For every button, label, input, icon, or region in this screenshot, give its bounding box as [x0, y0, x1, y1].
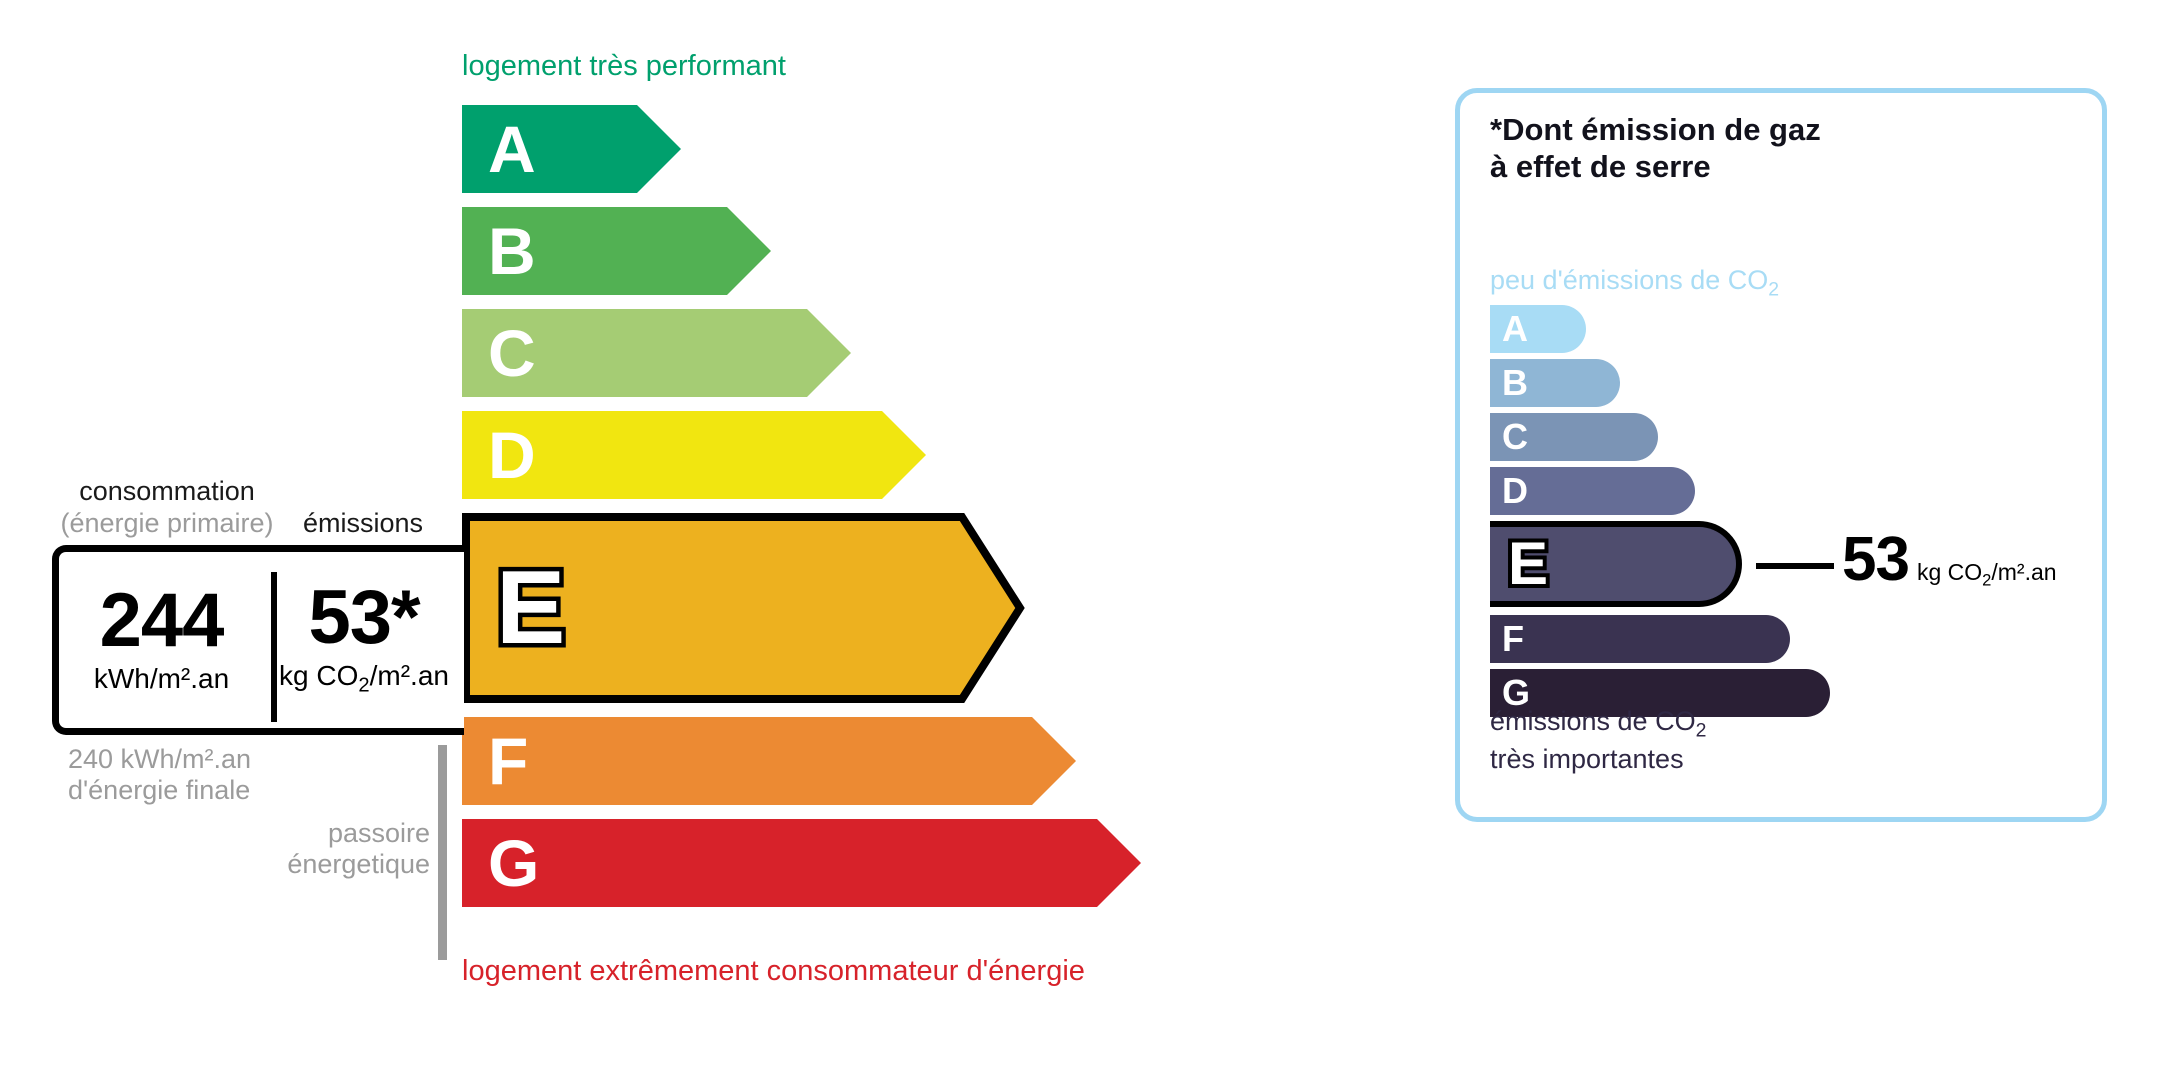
energy-class-letter-c: C: [488, 320, 536, 386]
co2-callout-leader-line: [1756, 563, 1834, 569]
label-passoire-line1: passoire: [200, 818, 430, 849]
emissions-value: 53*: [308, 582, 419, 654]
energy-class-letter-d: D: [488, 422, 536, 488]
label-passoire-line2: énergetique: [200, 849, 430, 880]
energy-class-row-e: E: [462, 513, 1262, 703]
energy-arrow-shape-f: [462, 717, 1076, 805]
energy-class-row-g: G: [462, 819, 1262, 907]
co2-class-row-a: A: [1490, 305, 1830, 353]
consommation-value-cell: 244 kWh/m².an: [59, 552, 264, 728]
co2-callout: 53kg CO2/m².an: [1842, 529, 2057, 591]
co2-callout-unit: kg CO2/m².an: [1917, 559, 2057, 591]
co2-class-letter-f: F: [1502, 621, 1524, 657]
co2-class-row-b: B: [1490, 359, 1830, 407]
co2-emissions-panel: *Dont émission de gaz à effet de serre p…: [1455, 88, 2107, 822]
energy-arrow-g: G: [462, 819, 1262, 907]
co2-class-row-c: C: [1490, 413, 1830, 461]
energy-class-row-f: F: [462, 717, 1262, 805]
energy-arrow-shape-g: [462, 819, 1141, 907]
co2-class-letter-d: D: [1502, 473, 1528, 509]
co2-class-letter-e: E: [1508, 534, 1548, 594]
consommation-unit: kWh/m².an: [94, 663, 229, 695]
co2-title-line2: à effet de serre: [1490, 148, 1821, 185]
energy-class-row-b: B: [462, 207, 1262, 295]
label-consommation: consommation: [62, 476, 272, 507]
co2-bottom-caption-line1: émissions de CO2: [1490, 705, 1706, 743]
emissions-unit: kg CO2/m².an: [279, 660, 449, 698]
co2-class-row-d: D: [1490, 467, 1830, 515]
consommation-value: 244: [100, 585, 224, 657]
energy-class-letter-g: G: [488, 830, 539, 896]
co2-class-row-f: F: [1490, 615, 1830, 663]
passoire-indicator-bar: [438, 745, 447, 960]
dpe-energy-panel: logement très performant ABCDEFG logemen…: [0, 0, 1400, 1079]
energy-class-arrow-stack: ABCDEFG: [462, 105, 1262, 921]
energy-class-letter-f: F: [488, 728, 528, 794]
energy-scale-top-caption: logement très performant: [462, 50, 786, 83]
co2-bottom-caption-line2: très importantes: [1490, 743, 1706, 775]
label-passoire-energetique: passoire énergetique: [200, 818, 430, 881]
energy-arrow-a: A: [462, 105, 1262, 193]
co2-panel-title: *Dont émission de gaz à effet de serre: [1490, 111, 1821, 185]
co2-class-bar-stack: ABCDE53kg CO2/m².anFG: [1490, 305, 1830, 723]
energy-arrow-d: D: [462, 411, 1262, 499]
co2-scale-bottom-caption: émissions de CO2 très importantes: [1490, 705, 1706, 775]
energy-class-letter-b: B: [488, 218, 536, 284]
energy-arrow-c: C: [462, 309, 1262, 397]
label-energie-finale-line1: 240 kWh/m².an: [68, 744, 251, 775]
energy-arrow-e: E: [462, 513, 1262, 703]
co2-title-line1: *Dont émission de gaz: [1490, 111, 1821, 148]
dpe-value-box: 244 kWh/m².an 53* kg CO2/m².an: [52, 545, 464, 735]
energy-arrow-b: B: [462, 207, 1262, 295]
emissions-value-cell: 53* kg CO2/m².an: [264, 552, 464, 728]
energy-class-letter-a: A: [488, 116, 536, 182]
energy-class-letter-e: E: [496, 556, 565, 660]
label-energie-primaire: (énergie primaire): [42, 508, 292, 539]
energy-class-row-a: A: [462, 105, 1262, 193]
co2-class-row-e: E53kg CO2/m².an: [1490, 521, 1830, 607]
energy-class-row-c: C: [462, 309, 1262, 397]
co2-class-letter-c: C: [1502, 419, 1528, 455]
label-energie-finale-line2: d'énergie finale: [68, 775, 251, 806]
energy-scale-bottom-caption: logement extrêmement consommateur d'éner…: [462, 955, 1085, 988]
value-box-divider: [271, 572, 277, 722]
co2-callout-value: 53: [1842, 529, 1909, 591]
co2-class-letter-b: B: [1502, 365, 1528, 401]
label-emissions: émissions: [268, 508, 458, 539]
co2-scale-top-caption: peu d'émissions de CO2: [1490, 265, 1779, 301]
label-energie-finale: 240 kWh/m².an d'énergie finale: [68, 744, 251, 807]
energy-arrow-f: F: [462, 717, 1262, 805]
co2-class-letter-a: A: [1502, 311, 1528, 347]
co2-bar-f: [1490, 615, 1790, 663]
energy-class-row-d: D: [462, 411, 1262, 499]
